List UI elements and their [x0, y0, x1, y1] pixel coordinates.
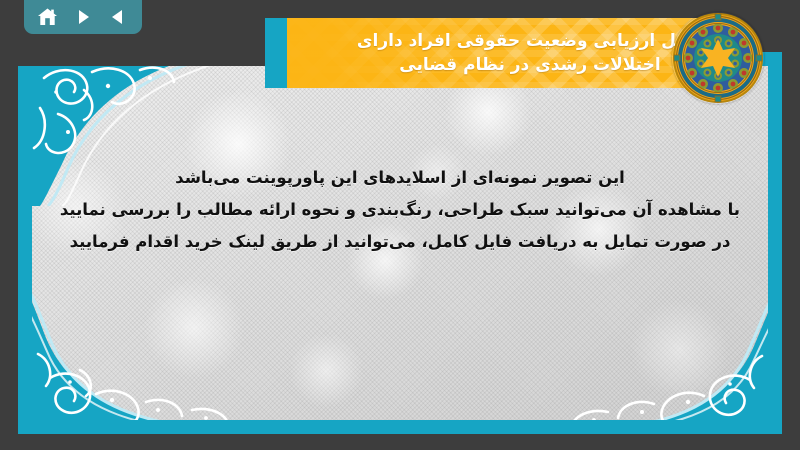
body-line-2: با مشاهده آن می‌توانید سبک طراحی، رنگ‌بن… — [60, 194, 740, 226]
title-banner: کامل ارزیابی وضعیت حقوقی افراد دارای اخت… — [265, 18, 735, 88]
page-title: کامل ارزیابی وضعیت حقوقی افراد دارای اخت… — [265, 18, 735, 88]
slide-frame: این تصویر نمونه‌ای از اسلایدهای این پاور… — [18, 52, 782, 434]
mandala-medallion-icon — [672, 12, 764, 104]
home-button[interactable] — [33, 4, 63, 30]
prev-button[interactable] — [103, 4, 133, 30]
slide-body-text: این تصویر نمونه‌ای از اسلایدهای این پاور… — [32, 162, 768, 259]
triangle-right-icon — [74, 8, 92, 26]
triangle-left-icon — [109, 8, 127, 26]
home-icon — [37, 7, 58, 27]
slide-preview: کامل ارزیابی وضعیت حقوقی افراد دارای اخت… — [0, 0, 800, 450]
body-line-3: در صورت تمایل به دریافت فایل کامل، می‌تو… — [60, 226, 740, 258]
ornament-bottom-left-icon — [32, 282, 362, 420]
slide-content-panel: این تصویر نمونه‌ای از اسلایدهای این پاور… — [32, 66, 768, 420]
body-line-1: این تصویر نمونه‌ای از اسلایدهای این پاور… — [60, 162, 740, 194]
ornament-bottom-right-icon — [528, 292, 768, 420]
navigation-bar — [24, 0, 142, 34]
next-button[interactable] — [68, 4, 98, 30]
title-line-2: اختلالات رشدی در نظام قضایی — [399, 53, 660, 77]
title-line-1: کامل ارزیابی وضعیت حقوقی افراد دارای — [357, 29, 703, 53]
frame-notch — [18, 52, 278, 66]
